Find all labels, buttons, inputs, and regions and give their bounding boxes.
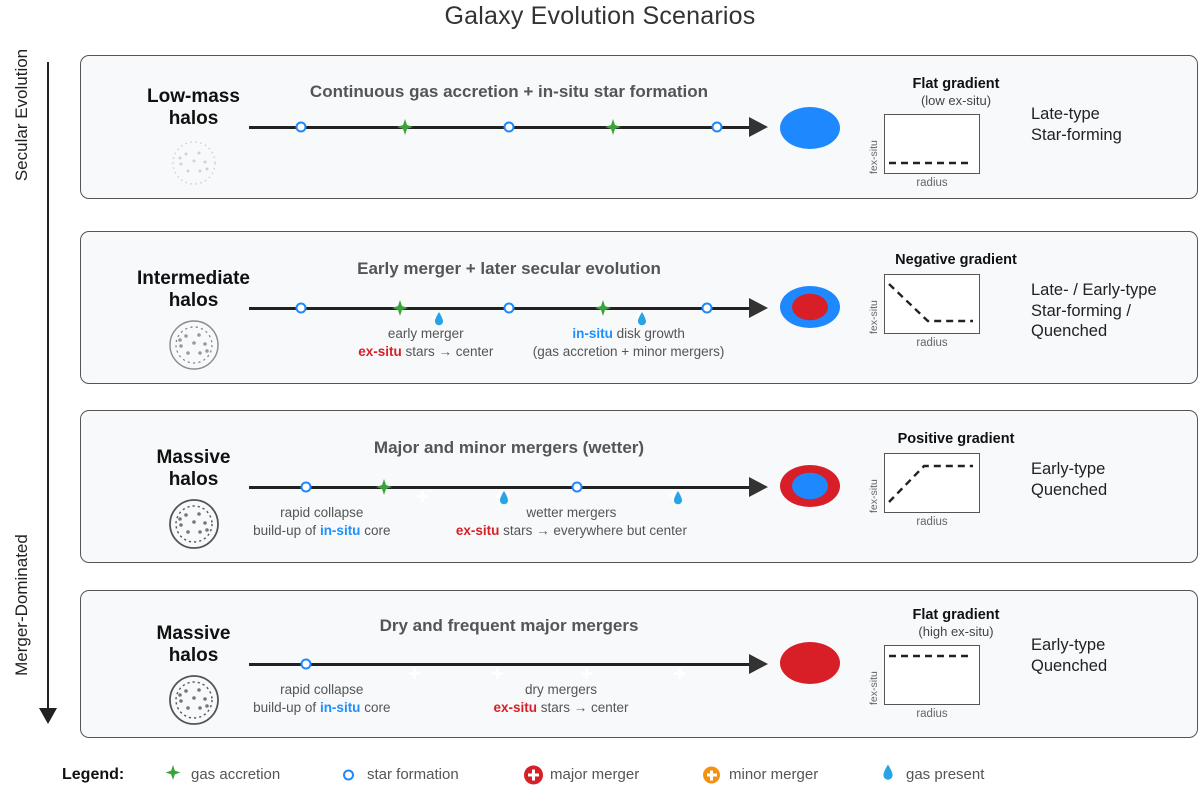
caption-text: build-up of (253, 523, 320, 538)
gradient-title: Negative gradient (856, 252, 1056, 268)
gradient-xlabel: radius (884, 177, 980, 189)
timeline-axis (249, 663, 751, 666)
exsitu-term: ex-situ (493, 700, 537, 715)
gradient-ylabel: fex-situ (868, 300, 880, 334)
evolution-timeline (249, 126, 769, 129)
insitu-term: in-situ (572, 326, 613, 341)
star-formation-icon (343, 770, 354, 781)
legend-item-label: gas accretion (191, 766, 280, 783)
gradient-block: Negative gradient fex-situ radius (856, 252, 1056, 356)
legend: Legend: gas accretionstar formationmajor… (0, 760, 1200, 794)
page-title: Galaxy Evolution Scenarios (0, 2, 1200, 31)
gradient-plot (884, 453, 980, 513)
outcome-line: Star-forming / (1031, 301, 1200, 322)
caption-text: core (360, 700, 390, 715)
gradient-ylabel: fex-situ (868, 479, 880, 513)
timeline-caption: in-situ disk growth(gas accretion + mino… (469, 325, 789, 361)
outcome-line: Quenched (1031, 480, 1200, 501)
gradient-title: Flat gradient (856, 76, 1056, 92)
caption-text: core (360, 523, 390, 538)
timeline-axis (249, 486, 751, 489)
timeline-caption: wetter mergersex-situ stars → everywhere… (411, 504, 731, 540)
gradient-xlabel: radius (884, 337, 980, 349)
caption-text: disk growth (613, 326, 685, 341)
major-merger-icon (524, 766, 543, 785)
timeline-arrow-icon (749, 477, 768, 497)
evolution-timeline (249, 486, 769, 489)
timeline-caption: dry mergersex-situ stars → center (401, 681, 721, 717)
caption-text: build-up of (253, 700, 320, 715)
scenario-panel[interactable]: Massivehalos Dry and frequent major merg… (80, 590, 1198, 738)
outcome-line: Quenched (1031, 321, 1200, 342)
outcome-label: Late-typeStar-forming (1031, 104, 1200, 145)
insitu-term: in-situ (320, 523, 361, 538)
gradient-plot (884, 114, 980, 174)
galaxy-shape (779, 285, 841, 334)
star-formation-icon (701, 303, 712, 314)
gas-accretion-icon (605, 119, 622, 136)
minor-merger-icon (703, 767, 720, 784)
halo-block: Intermediatehalos (101, 268, 286, 377)
gas-present-icon (434, 312, 443, 326)
legend-item-label: gas present (906, 766, 984, 783)
star-formation-icon (301, 659, 312, 670)
faint-dotted-halo-icon (101, 136, 286, 195)
gradient-block: Flat gradient (low ex-situ) fex-situ rad… (856, 76, 1056, 196)
down-arrow-icon (39, 708, 57, 724)
outcome-line: Early-type (1031, 459, 1200, 480)
star-formation-icon (504, 122, 515, 133)
exsitu-term: ex-situ (456, 523, 500, 538)
caption-line: wetter mergers (411, 504, 731, 522)
star-formation-icon (712, 122, 723, 133)
caption-text: stars → center (537, 700, 629, 715)
gradient-xlabel: radius (884, 516, 980, 528)
timeline-axis (249, 126, 751, 129)
caption-line: ex-situ stars → center (401, 699, 721, 717)
gradient-block: Flat gradient (high ex-situ) fex-situ ra… (856, 607, 1056, 727)
gas-accretion-icon (391, 300, 408, 317)
legend-item-label: minor merger (729, 766, 818, 783)
caption-text: rapid collapse (280, 505, 363, 520)
scenario-title: Major and minor mergers (wetter) (249, 438, 769, 458)
galaxy-shape (779, 106, 841, 155)
timeline-arrow-icon (749, 117, 768, 137)
galaxy-shape (779, 464, 841, 513)
gradient-ylabel: fex-situ (868, 140, 880, 174)
gas-present-icon (674, 491, 683, 505)
gradient-title: Positive gradient (856, 431, 1056, 447)
caption-text: dry mergers (525, 682, 597, 697)
timeline-arrow-icon (749, 654, 768, 674)
caption-text: rapid collapse (280, 682, 363, 697)
axis-label-secular: Secular Evolution (12, 15, 32, 215)
caption-line: in-situ disk growth (469, 325, 789, 343)
gas-accretion-icon (376, 479, 393, 496)
gradient-title: Flat gradient (856, 607, 1056, 623)
legend-title: Legend: (62, 766, 124, 784)
outcome-line: Early-type (1031, 635, 1200, 656)
outcome-line: Late- / Early-type (1031, 280, 1200, 301)
outcome-line: Late-type (1031, 104, 1200, 125)
scenario-title: Early merger + later secular evolution (249, 259, 769, 279)
outcome-line: Star-forming (1031, 125, 1200, 146)
timeline-arrow-icon (749, 298, 768, 318)
scenario-title: Continuous gas accretion + in-situ star … (249, 82, 769, 102)
gas-accretion-icon (594, 300, 611, 317)
outcome-line: Quenched (1031, 656, 1200, 677)
star-formation-icon (301, 482, 312, 493)
galaxy-shape (779, 641, 841, 690)
scenario-panel[interactable]: Intermediatehalos Early merger + later s… (80, 231, 1198, 384)
scenario-panel[interactable]: Low-masshalos Continuous gas accretion +… (80, 55, 1198, 199)
insitu-term: in-situ (320, 700, 361, 715)
gas-present-icon (637, 312, 646, 326)
evolution-timeline (249, 307, 769, 310)
caption-text: stars → everywhere but center (499, 523, 687, 538)
outcome-label: Early-typeQuenched (1031, 635, 1200, 676)
gradient-xlabel: radius (884, 708, 980, 720)
star-formation-icon (296, 303, 307, 314)
scenario-panel[interactable]: Massivehalos Major and minor mergers (we… (80, 410, 1198, 563)
gradient-ylabel: fex-situ (868, 671, 880, 705)
star-formation-icon (296, 122, 307, 133)
gradient-block: Positive gradient fex-situ radius (856, 431, 1056, 535)
gradient-plot (884, 274, 980, 334)
caption-text: early merger (388, 326, 464, 341)
caption-text: (gas accretion + minor mergers) (533, 344, 725, 359)
star-formation-icon (571, 482, 582, 493)
gradient-subtitle: (low ex-situ) (856, 93, 1056, 108)
exsitu-term: ex-situ (358, 344, 402, 359)
axis-label-merger: Merger-Dominated (12, 505, 32, 705)
outcome-label: Early-typeQuenched (1031, 459, 1200, 500)
caption-line: ex-situ stars → everywhere but center (411, 522, 731, 540)
axis-shaft (47, 62, 49, 717)
gradient-plot (884, 645, 980, 705)
gas-present-icon (499, 491, 508, 505)
dotted-halo-icon (101, 318, 286, 377)
legend-item-label: major merger (550, 766, 639, 783)
halo-block: Low-masshalos (101, 86, 286, 195)
legend-item-label: star formation (367, 766, 459, 783)
gas-accretion-icon (165, 765, 181, 786)
evolution-timeline (249, 663, 769, 666)
scenario-title: Dry and frequent major mergers (249, 616, 769, 636)
caption-text: wetter mergers (526, 505, 616, 520)
gradient-subtitle: (high ex-situ) (856, 624, 1056, 639)
caption-line: dry mergers (401, 681, 721, 699)
outcome-label: Late- / Early-typeStar-forming /Quenched (1031, 280, 1200, 342)
caption-line: (gas accretion + minor mergers) (469, 343, 789, 361)
star-formation-icon (504, 303, 515, 314)
gas-present-icon (883, 765, 893, 786)
timeline-axis (249, 307, 751, 310)
gas-accretion-icon (397, 119, 414, 136)
